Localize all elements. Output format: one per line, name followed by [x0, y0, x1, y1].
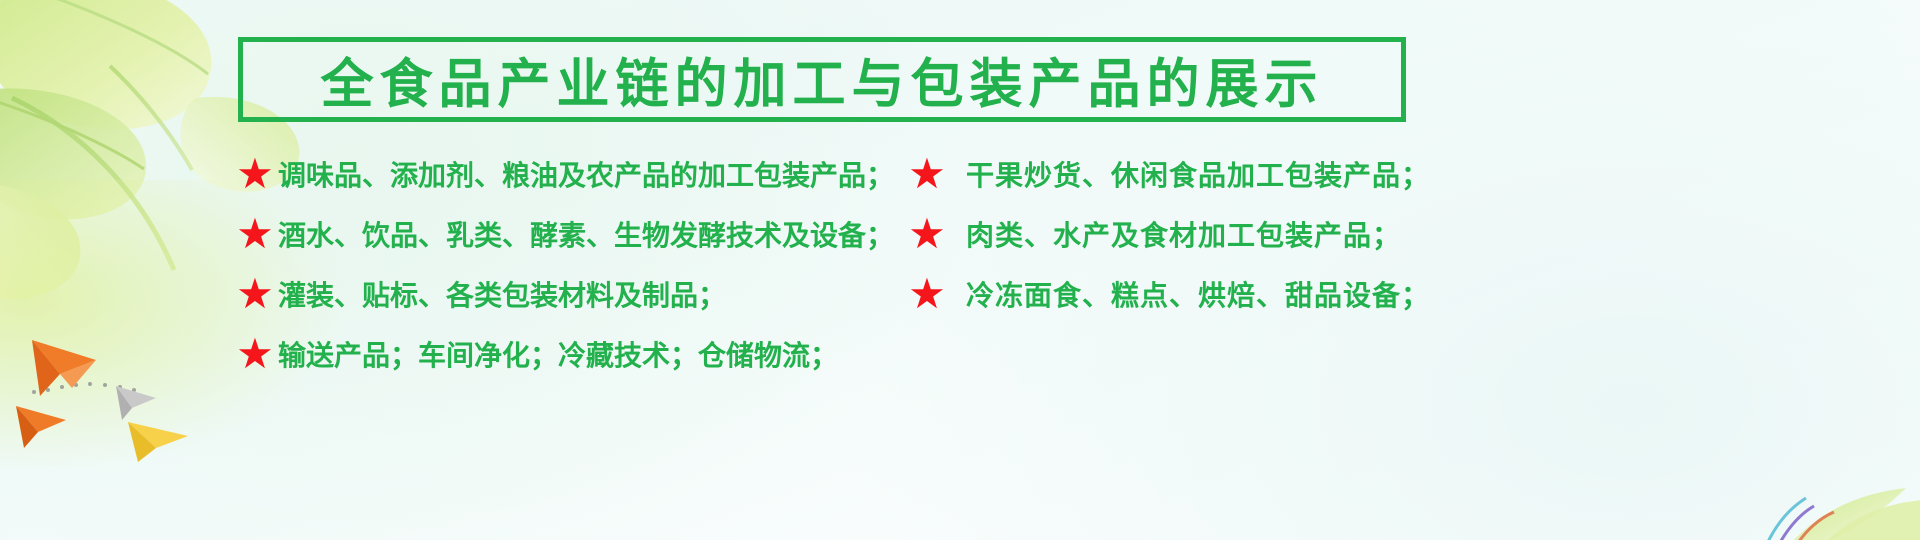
bullet-column-right: ★ 干果炒货、休闲食品加工包装产品； ★ 肉类、水产及食材加工包装产品； ★ 冷…: [910, 152, 1638, 332]
list-item: ★ 干果炒货、休闲食品加工包装产品；: [910, 152, 1638, 195]
list-item: ★ 冷冻面食、糕点、烘焙、甜品设备；: [910, 272, 1638, 315]
list-item-label: 调味品、添加剂、粮油及农产品的加工包装产品；: [278, 154, 894, 194]
list-item-label: 灌装、贴标、各类包装材料及制品；: [278, 274, 726, 314]
star-icon: ★: [910, 217, 944, 250]
list-item-label: 干果炒货、休闲食品加工包装产品；: [966, 154, 1430, 194]
ribbon-decoration: [1670, 416, 1920, 540]
list-item: ★ 酒水、饮品、乳类、酵素、生物发酵技术及设备；: [238, 212, 898, 255]
banner-canvas: 全食品产业链的加工与包装产品的展示 ★ 调味品、添加剂、粮油及农产品的加工包装产…: [0, 0, 1920, 540]
list-item-label: 肉类、水产及食材加工包装产品；: [966, 214, 1401, 254]
paper-plane-decoration: [10, 330, 250, 480]
star-icon: ★: [910, 157, 944, 190]
list-item: ★ 灌装、贴标、各类包装材料及制品；: [238, 272, 898, 315]
list-item: ★ 输送产品；车间净化；冷藏技术；仓储物流；: [238, 332, 898, 375]
bullet-column-left: ★ 调味品、添加剂、粮油及农产品的加工包装产品； ★ 酒水、饮品、乳类、酵素、生…: [238, 152, 898, 392]
list-item: ★ 调味品、添加剂、粮油及农产品的加工包装产品；: [238, 152, 898, 195]
star-icon: ★: [910, 277, 944, 310]
list-item-label: 酒水、饮品、乳类、酵素、生物发酵技术及设备；: [278, 214, 894, 254]
star-icon: ★: [238, 157, 272, 190]
star-icon: ★: [238, 217, 272, 250]
list-item-label: 输送产品；车间净化；冷藏技术；仓储物流；: [278, 334, 838, 374]
list-item: ★ 肉类、水产及食材加工包装产品；: [910, 212, 1638, 255]
star-icon: ★: [238, 277, 272, 310]
page-title: 全食品产业链的加工与包装产品的展示: [321, 42, 1324, 118]
list-item-label: 冷冻面食、糕点、烘焙、甜品设备；: [966, 274, 1430, 314]
banner-title-box: 全食品产业链的加工与包装产品的展示: [238, 37, 1406, 122]
star-icon: ★: [238, 337, 272, 370]
